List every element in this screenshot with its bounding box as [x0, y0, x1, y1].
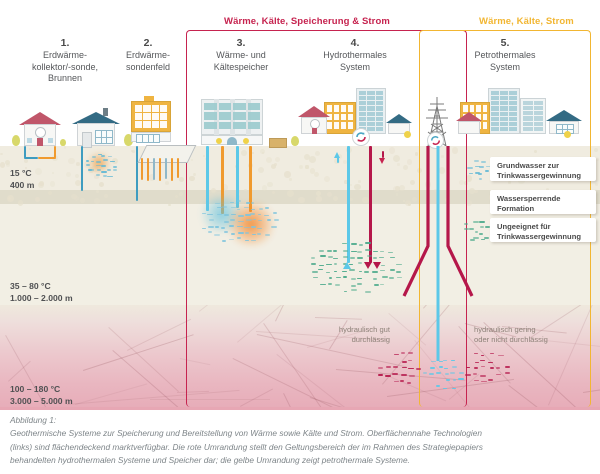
column-label-line: Erdwärme- [103, 50, 193, 62]
deep-fracture-dashes-right [462, 350, 508, 384]
column-label-line: System [300, 62, 410, 74]
bush-icon [12, 135, 20, 146]
bush-icon [60, 139, 66, 146]
annotation-permeable: hydraulisch gut durchlässig [322, 325, 390, 344]
collector-pipe-return [54, 146, 56, 158]
lamp-icon [243, 138, 249, 144]
house-body [458, 121, 480, 134]
column-header-4: 4. Hydrothermales System [300, 36, 410, 73]
house-window-right [48, 138, 53, 143]
legend-item-unsuitable: Ungeeignet für Trinkwassergewinnung [490, 218, 596, 242]
depth-value: 1.000 – 2.000 m [10, 293, 73, 305]
storage-windows [204, 103, 260, 129]
depth-value: 400 m [10, 180, 34, 192]
column-header-5: 5. Petrothermales System [450, 36, 560, 73]
building-probe-field [131, 96, 171, 146]
caption-line: Geothermische Systeme zur Speicherung un… [10, 427, 592, 440]
roof-icon [386, 114, 412, 123]
column-header-3: 3. Wärme- und Kältespeicher [190, 36, 292, 73]
bush-icon [291, 136, 299, 146]
container-icon [269, 138, 287, 148]
collector-pipe-horizontal [24, 157, 38, 159]
column-header-2: 2. Erdwärme- sondenfeld [103, 36, 193, 73]
legend-line: Formation [497, 204, 589, 214]
column-label-line: System [450, 62, 560, 74]
legend-item-groundwater: Grundwasser zur Trinkwassergewinnung [490, 157, 596, 181]
house-door [82, 132, 92, 148]
column-number: 5. [450, 36, 560, 50]
caption-line: behandelten hydrothermalen Systeme und S… [10, 454, 592, 467]
column-label-line: Hydrothermales [300, 50, 410, 62]
lamp-icon [564, 131, 571, 138]
column-label-line: sondenfeld [103, 62, 193, 74]
legend-swatch-groundwater [460, 158, 488, 180]
column-number: 4. [300, 36, 410, 50]
annotation-line: oder nicht durchlässig [474, 335, 574, 345]
chimney-icon [103, 108, 108, 116]
annotation-impermeable: hydraulisch gering oder nicht durchlässi… [474, 325, 574, 344]
column-number: 3. [190, 36, 292, 50]
building-base-windows [136, 134, 160, 143]
house-door [312, 128, 317, 134]
building-storage [201, 99, 263, 146]
legend-swatch-unsuitable [460, 219, 488, 241]
caption-line: (links) sind flächendeckend marktverfügb… [10, 441, 592, 454]
roof-icon [456, 112, 482, 121]
scope-label-red: Wärme, Kälte, Speicherung & Strom [224, 16, 390, 27]
groundwater-dashes [84, 152, 114, 178]
house-door [37, 138, 43, 146]
temp-value: 100 – 180 °C [10, 384, 73, 396]
caption-divider [0, 407, 600, 410]
legend-line: Wassersperrende [497, 194, 589, 204]
house-collector [18, 112, 62, 148]
tower-windows [491, 91, 517, 131]
column-label-line: Wärme- und [190, 50, 292, 62]
caption-title: Abbildung 1: [10, 414, 592, 427]
legend-line: Grundwasser zur [497, 161, 589, 171]
column-label-line: Petrothermales [450, 50, 560, 62]
heat-exchange-badge [352, 128, 370, 146]
legend-line: Trinkwassergewinnung [497, 232, 589, 242]
probe-field-tubes [139, 158, 187, 182]
house-window-left [27, 138, 32, 143]
figure-caption: Abbildung 1: Geothermische Systeme zur S… [10, 414, 592, 468]
temp-value: 15 °C [10, 168, 34, 180]
depth-value: 3.000 – 5.000 m [10, 396, 73, 408]
scope-label-yellow: Wärme, Kälte, Strom [479, 16, 574, 27]
roof-icon [298, 106, 330, 117]
depth-label-shallow: 15 °C 400 m [10, 168, 34, 191]
legend-item-aquitard: Wassersperrende Formation [490, 190, 596, 214]
mid-rise-windows [327, 105, 353, 129]
deep-fracture-dashes-left [374, 350, 420, 384]
house-probe [70, 108, 122, 148]
legend-line: Ungeeignet für [497, 222, 589, 232]
lamp-icon [216, 138, 222, 144]
annotation-line: hydraulisch gut [322, 325, 390, 335]
temp-value: 35 – 80 °C [10, 281, 73, 293]
column-number: 2. [103, 36, 193, 50]
annotation-line: durchlässig [322, 335, 390, 345]
column-label-line: Brunnen [10, 73, 120, 85]
roof-icon [546, 110, 582, 121]
column-label-line: Kältespeicher [190, 62, 292, 74]
entrance-arch [227, 137, 237, 145]
storage-dashes [198, 198, 276, 242]
tower-windows [359, 91, 383, 131]
office-windows [523, 101, 543, 131]
house-window-grid [95, 130, 113, 144]
lamp-icon [404, 131, 411, 138]
annotation-line: hydraulisch gering [474, 325, 574, 335]
depth-label-middle: 35 – 80 °C 1.000 – 2.000 m [10, 281, 73, 304]
building-window-grid [135, 105, 167, 128]
deep-injection-dashes [420, 356, 462, 390]
depth-label-deep: 100 – 180 °C 3.000 – 5.000 m [10, 384, 73, 407]
house-window-round [35, 127, 46, 138]
legend-line: Trinkwassergewinnung [497, 171, 589, 181]
